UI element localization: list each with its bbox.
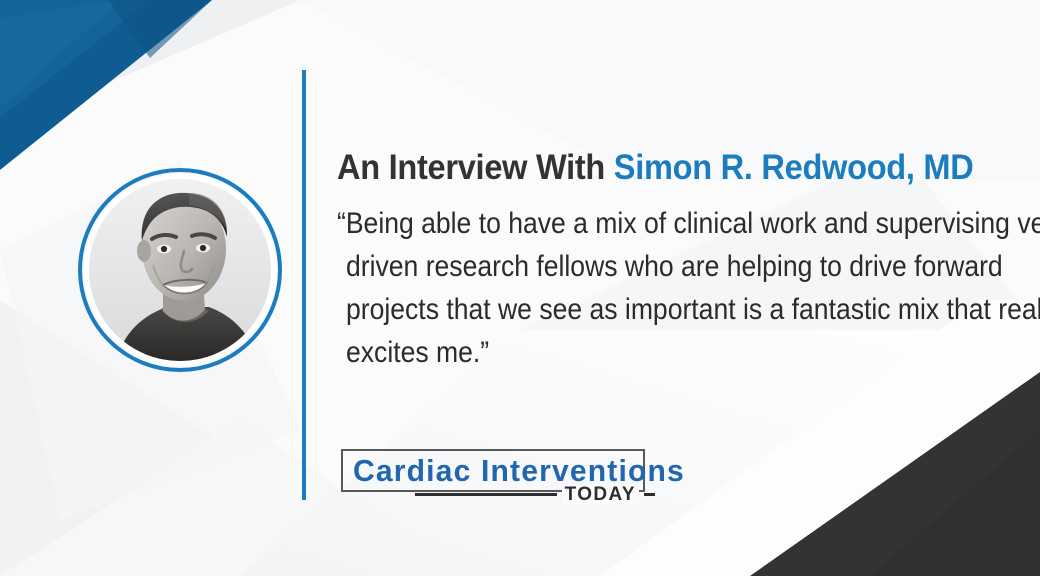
page-title: An Interview With Simon R. Redwood, MD xyxy=(337,148,951,188)
brand-logo: Cardiac Interventions TODAY xyxy=(341,449,645,492)
quote-line: “Being able to have a mix of clinical wo… xyxy=(337,202,931,245)
quote-line: driven research fellows who are helping … xyxy=(337,245,931,288)
logo-title: Cardiac Interventions xyxy=(353,455,685,486)
logo-rule-left xyxy=(415,493,557,496)
vertical-accent-rule xyxy=(302,70,306,500)
pull-quote: “Being able to have a mix of clinical wo… xyxy=(337,202,931,374)
avatar: Portrait of Simon R. Redwood, MD xyxy=(78,168,282,372)
quote-line: projects that we see as important is a f… xyxy=(337,288,931,331)
logo-subtitle-row: TODAY xyxy=(415,483,655,505)
quote-line: excites me.” xyxy=(337,331,931,374)
text-content: An Interview With Simon R. Redwood, MD “… xyxy=(337,148,997,374)
logo-subtitle: TODAY xyxy=(562,485,639,504)
logo-rule-right xyxy=(644,493,655,496)
interview-quote-card: Portrait of Simon R. Redwood, MD xyxy=(0,0,1040,576)
interviewee-name: Simon R. Redwood, MD xyxy=(614,148,974,187)
headline-prefix: An Interview With xyxy=(337,148,614,187)
avatar-photo: Portrait of Simon R. Redwood, MD xyxy=(89,179,271,361)
